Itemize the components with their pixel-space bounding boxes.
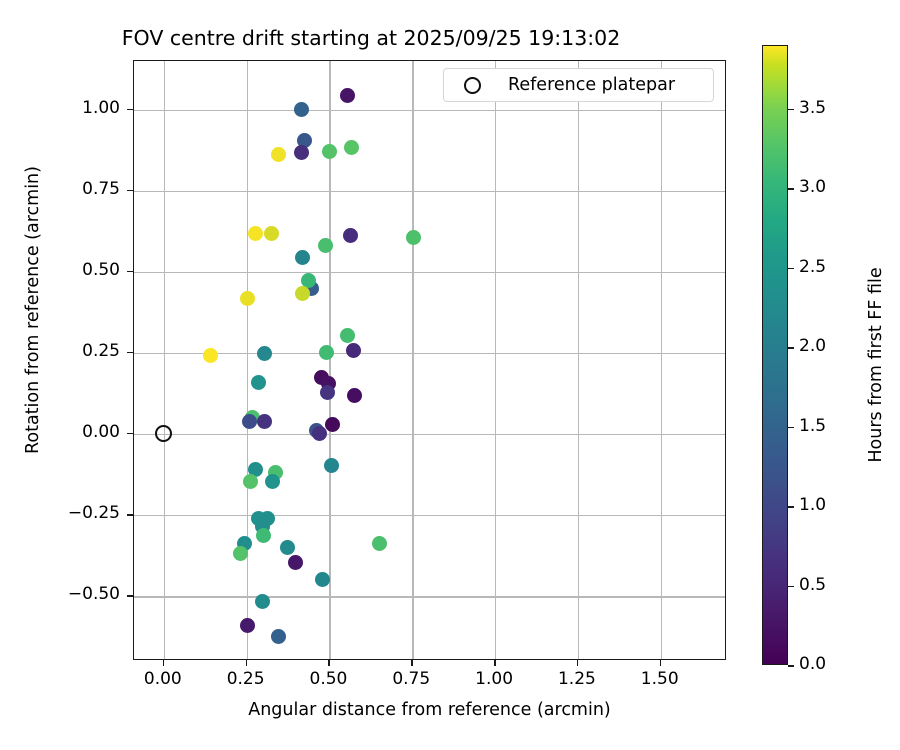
scatter-point bbox=[257, 346, 272, 361]
colorbar-tick-label: 1.5 bbox=[799, 416, 826, 436]
scatter-point bbox=[271, 629, 286, 644]
scatter-point bbox=[346, 343, 361, 358]
colorbar-tick-label: 2.5 bbox=[799, 257, 826, 277]
scatter-point bbox=[312, 426, 327, 441]
x-tick-label: 0.00 bbox=[118, 669, 208, 689]
scatter-point bbox=[251, 375, 266, 390]
colorbar-tick-label: 0.0 bbox=[799, 654, 826, 674]
colorbar-tick-mark bbox=[788, 427, 794, 429]
gridline-horizontal bbox=[134, 191, 725, 192]
scatter-point bbox=[243, 474, 258, 489]
scatter-point bbox=[344, 140, 359, 155]
colorbar-tick-label: 3.0 bbox=[799, 177, 826, 197]
gridline-horizontal bbox=[134, 596, 725, 597]
gridline-vertical bbox=[164, 61, 165, 659]
gridline-vertical bbox=[661, 61, 662, 659]
gridline-vertical bbox=[247, 61, 248, 659]
colorbar-tick-label: 0.5 bbox=[799, 575, 826, 595]
colorbar-tick-mark bbox=[788, 268, 794, 270]
reference-platepar-marker-icon bbox=[464, 77, 481, 94]
scatter-point bbox=[340, 328, 355, 343]
x-tick-label: 0.25 bbox=[201, 669, 291, 689]
scatter-point bbox=[318, 238, 333, 253]
scatter-point bbox=[294, 102, 309, 117]
y-axis-ticks: −0.50−0.250.000.250.500.751.00 bbox=[0, 0, 120, 750]
gridline-horizontal bbox=[134, 110, 725, 111]
scatter-point bbox=[265, 474, 280, 489]
gridline-horizontal bbox=[134, 272, 725, 273]
x-tick-mark bbox=[494, 660, 496, 666]
gridline-vertical bbox=[578, 61, 579, 659]
colorbar-tick-mark bbox=[788, 665, 794, 667]
scatter-point bbox=[315, 572, 330, 587]
colorbar-tick-mark bbox=[788, 586, 794, 588]
y-tick-label: −0.50 bbox=[68, 584, 120, 604]
colorbar-tick-label: 1.0 bbox=[799, 495, 826, 515]
y-tick-mark bbox=[127, 190, 133, 192]
colorbar-tick-mark bbox=[788, 109, 794, 111]
scatter-point bbox=[347, 388, 362, 403]
scatter-point bbox=[248, 226, 263, 241]
scatter-point bbox=[295, 286, 310, 301]
scatter-point bbox=[242, 414, 257, 429]
y-tick-label: −0.25 bbox=[68, 503, 120, 523]
scatter-point bbox=[264, 226, 279, 241]
plot-area[interactable] bbox=[133, 60, 726, 660]
scatter-point bbox=[320, 385, 335, 400]
gridline-vertical bbox=[495, 61, 496, 659]
colorbar-tick-label: 2.0 bbox=[799, 336, 826, 356]
colorbar-tick-mark bbox=[788, 347, 794, 349]
scatter-point bbox=[203, 348, 218, 363]
colorbar-tick-mark bbox=[788, 506, 794, 508]
scatter-point bbox=[295, 250, 310, 265]
gridline-horizontal bbox=[134, 434, 725, 435]
x-axis-label: Angular distance from reference (arcmin) bbox=[133, 700, 726, 720]
y-axis-label: Rotation from reference (arcmin) bbox=[23, 75, 43, 545]
figure-canvas: FOV centre drift starting at 2025/09/25 … bbox=[0, 0, 900, 750]
y-tick-label: 0.00 bbox=[82, 422, 120, 442]
y-tick-mark bbox=[127, 352, 133, 354]
scatter-point bbox=[233, 546, 248, 561]
x-tick-mark bbox=[411, 660, 413, 666]
y-tick-label: 1.00 bbox=[82, 98, 120, 118]
y-tick-label: 0.25 bbox=[82, 341, 120, 361]
gridline-horizontal bbox=[134, 353, 725, 354]
colorbar-label: Hours from first FF file bbox=[866, 155, 886, 575]
scatter-point bbox=[280, 540, 295, 555]
gridline-vertical bbox=[412, 61, 413, 659]
y-tick-mark bbox=[127, 271, 133, 273]
y-tick-mark bbox=[127, 595, 133, 597]
x-tick-label: 1.25 bbox=[532, 669, 622, 689]
x-tick-label: 0.75 bbox=[366, 669, 456, 689]
x-tick-mark bbox=[328, 660, 330, 666]
x-tick-label: 1.50 bbox=[615, 669, 705, 689]
y-tick-label: 0.50 bbox=[82, 260, 120, 280]
gridline-horizontal bbox=[134, 515, 725, 516]
scatter-point bbox=[255, 594, 270, 609]
scatter-point bbox=[240, 618, 255, 633]
scatter-point bbox=[257, 414, 272, 429]
scatter-point bbox=[240, 291, 255, 306]
scatter-point bbox=[294, 145, 309, 160]
scatter-point bbox=[319, 345, 334, 360]
scatter-point bbox=[271, 147, 286, 162]
y-tick-mark bbox=[127, 514, 133, 516]
scatter-point bbox=[406, 230, 421, 245]
y-tick-mark bbox=[127, 109, 133, 111]
colorbar-tick-mark bbox=[788, 188, 794, 190]
scatter-point bbox=[256, 528, 271, 543]
x-tick-label: 0.50 bbox=[283, 669, 373, 689]
scatter-point bbox=[340, 88, 355, 103]
scatter-point bbox=[324, 458, 339, 473]
scatter-point bbox=[343, 228, 358, 243]
scatter-point bbox=[372, 536, 387, 551]
scatter-point bbox=[325, 417, 340, 432]
legend-entry-label: Reference platepar bbox=[508, 75, 675, 95]
x-tick-mark bbox=[660, 660, 662, 666]
legend-box[interactable]: Reference platepar bbox=[443, 68, 714, 102]
colorbar-tick-label: 3.5 bbox=[799, 98, 826, 118]
scatter-point bbox=[288, 555, 303, 570]
y-tick-label: 0.75 bbox=[82, 179, 120, 199]
reference-platepar-point bbox=[155, 425, 172, 442]
x-tick-mark bbox=[163, 660, 165, 666]
scatter-point bbox=[322, 144, 337, 159]
x-tick-label: 1.00 bbox=[449, 669, 539, 689]
x-tick-mark bbox=[577, 660, 579, 666]
x-tick-mark bbox=[246, 660, 248, 666]
y-tick-mark bbox=[127, 433, 133, 435]
colorbar-gradient bbox=[762, 45, 788, 665]
